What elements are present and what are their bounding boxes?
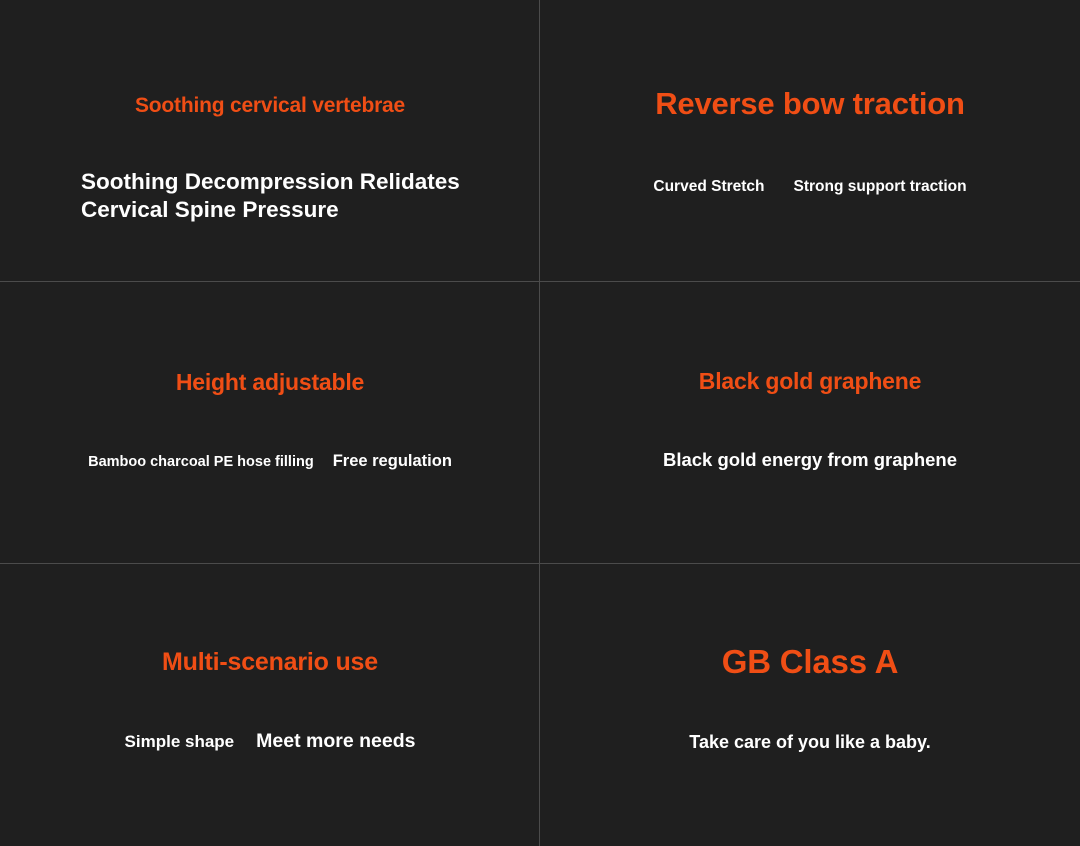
feature-subtitle-row: Bamboo charcoal PE hose filling Free reg… [0,451,540,472]
feature-card-soothing-cervical-vertebrae: Soothing cervical vertebrae Soothing Dec… [0,0,540,282]
feature-subtitle-row: Simple shape Meet more needs [0,730,540,754]
feature-subtitle-segment: Black gold energy from graphene [663,449,957,472]
feature-subtitle-segment: Free regulation [333,451,452,471]
grid-divider-vertical [539,0,540,846]
feature-subtitle-segment: Take care of you like a baby. [689,732,930,754]
feature-title: GB Class A [540,645,1080,680]
feature-subtitle: Bamboo charcoal PE hose filling Free reg… [0,451,540,472]
feature-subtitle-row: Black gold energy from graphene [540,449,1080,472]
grid-divider-horizontal [0,563,1080,564]
feature-subtitle-line: Cervical Spine Pressure [81,196,540,224]
feature-subtitle: Take care of you like a baby. [540,732,1080,754]
feature-subtitle: Soothing Decompression Relidates Cervica… [0,168,540,224]
feature-card-reverse-bow-traction: Reverse bow traction Curved Stretch Stro… [540,0,1080,282]
feature-subtitle-segment: Meet more needs [256,730,415,754]
feature-title: Soothing cervical vertebrae [0,95,540,117]
grid-divider-horizontal [0,281,1080,282]
feature-subtitle-line: Soothing Decompression Relidates [81,168,540,196]
feature-subtitle: Simple shape Meet more needs [0,730,540,754]
feature-subtitle-row: Take care of you like a baby. [540,732,1080,754]
feature-title: Height adjustable [0,370,540,394]
feature-subtitle-row: Curved Stretch Strong support traction [540,178,1080,197]
feature-card-height-adjustable: Height adjustable Bamboo charcoal PE hos… [0,282,540,564]
feature-card-multi-scenario-use: Multi-scenario use Simple shape Meet mor… [0,564,540,846]
feature-subtitle-segment: Bamboo charcoal PE hose filling [88,454,314,472]
feature-card-gb-class-a: GB Class A Take care of you like a baby. [540,564,1080,846]
feature-grid: Soothing cervical vertebrae Soothing Dec… [0,0,1080,846]
feature-title: Multi-scenario use [0,649,540,675]
feature-title: Reverse bow traction [540,88,1080,121]
feature-card-black-gold-graphene: Black gold graphene Black gold energy fr… [540,282,1080,564]
feature-subtitle: Curved Stretch Strong support traction [540,178,1080,197]
feature-subtitle-segment: Simple shape [125,732,235,753]
feature-subtitle-segment: Strong support traction [794,178,967,197]
feature-title: Black gold graphene [540,369,1080,393]
feature-subtitle-segment: Curved Stretch [653,178,764,197]
feature-subtitle: Black gold energy from graphene [540,449,1080,472]
